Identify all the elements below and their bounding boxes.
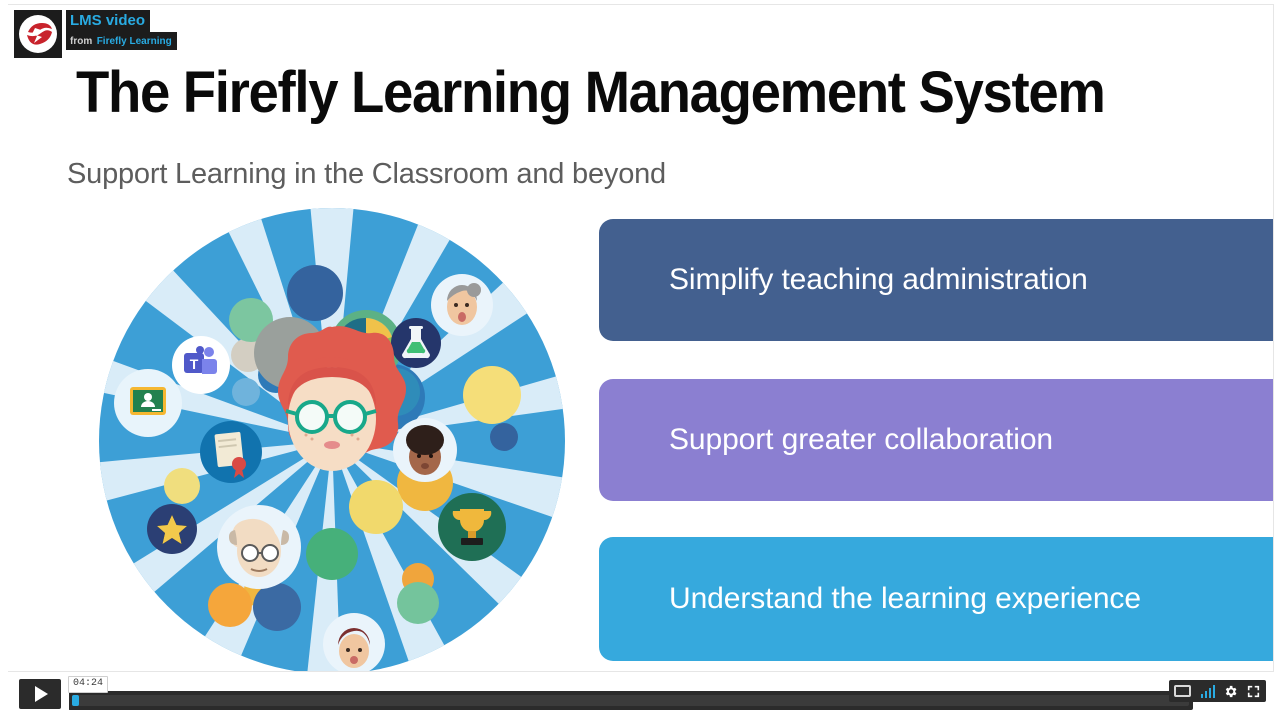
student-avatar-right — [393, 418, 457, 482]
bullet-bar-collaboration: Support greater collaboration — [599, 379, 1274, 501]
fullscreen-icon[interactable] — [1246, 684, 1261, 699]
fullscreen-glyph — [1246, 684, 1261, 699]
right-controls — [1169, 680, 1267, 702]
branding-video-label: LMS video — [66, 10, 150, 32]
learning-hub-illustration: T — [96, 207, 568, 672]
slide-title: The Firefly Learning Management System — [76, 60, 1166, 126]
bullet-bar-label: Understand the learning experience — [669, 582, 1141, 616]
bullet-bar-simplify: Simplify teaching administration — [599, 219, 1274, 341]
video-player: T — [0, 0, 1280, 720]
progress-track[interactable] — [72, 695, 1189, 706]
slide-subtitle: Support Learning in the Classroom and be… — [67, 158, 666, 191]
play-icon — [35, 686, 48, 702]
progress-bar[interactable] — [68, 691, 1193, 710]
student-avatar-top-right — [431, 274, 493, 336]
gear-glyph — [1223, 684, 1238, 699]
certificate-document-icon — [200, 421, 262, 483]
google-classroom-icon — [114, 369, 182, 437]
bullet-bar-label: Simplify teaching administration — [669, 263, 1088, 297]
trophy-icon — [438, 493, 506, 561]
progress-fill — [72, 695, 79, 706]
firefly-logo-disc — [19, 15, 57, 53]
player-controls: 04:24 — [0, 672, 1280, 720]
branding-badge[interactable]: LMS video from Firefly Learning — [14, 10, 177, 58]
firefly-mark-icon — [23, 19, 53, 49]
svg-text:T: T — [190, 356, 199, 372]
bullet-bar-understand: Understand the learning experience — [599, 537, 1274, 661]
star-badge-icon — [147, 504, 197, 554]
slide-canvas: T — [8, 4, 1274, 672]
student-avatar-bottom-left — [217, 505, 301, 589]
illustration-svg: T — [96, 207, 568, 672]
branding-from-label: from — [70, 36, 92, 47]
timeline[interactable]: 04:24 — [68, 680, 1193, 710]
volume-level-icon[interactable] — [1201, 684, 1216, 698]
branding-attribution: from Firefly Learning — [66, 32, 177, 50]
current-time-label: 04:24 — [68, 676, 108, 693]
firefly-logo-icon[interactable] — [14, 10, 62, 58]
microsoft-teams-icon: T — [172, 336, 230, 394]
captions-icon[interactable] — [1174, 685, 1191, 697]
gear-icon[interactable] — [1223, 684, 1238, 699]
branding-text: LMS video from Firefly Learning — [66, 10, 177, 50]
play-button[interactable] — [19, 679, 61, 709]
bullet-bar-label: Support greater collaboration — [669, 423, 1053, 457]
branding-company-label[interactable]: Firefly Learning — [97, 36, 172, 47]
science-flask-icon — [391, 318, 441, 368]
